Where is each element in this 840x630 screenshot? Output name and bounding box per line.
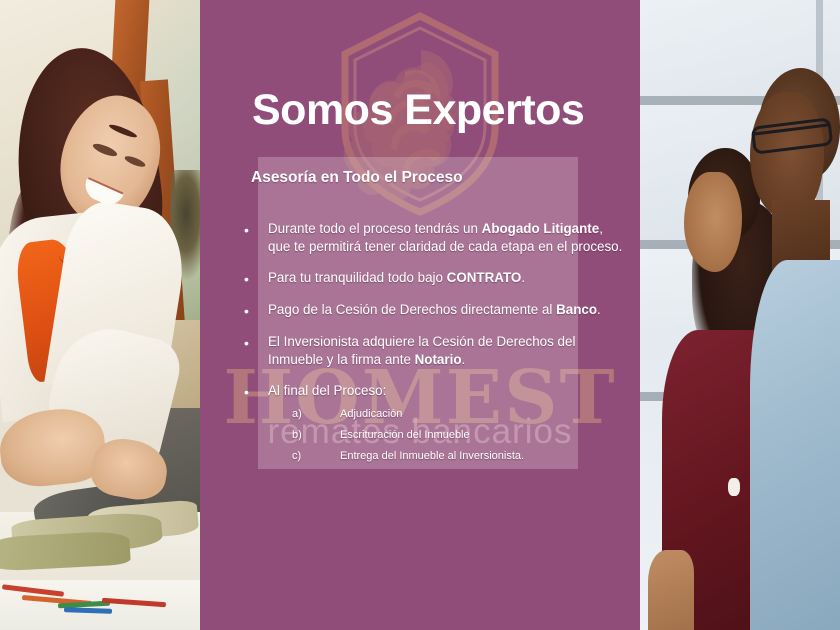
bullet-item: •Durante todo el proceso tendrás un Abog… bbox=[244, 220, 624, 256]
photo-right bbox=[640, 0, 840, 630]
page-title: Somos Expertos bbox=[252, 86, 584, 135]
bullet-marker-icon: • bbox=[244, 220, 268, 256]
bullet-text: El Inversionista adquiere la Cesión de D… bbox=[268, 333, 624, 369]
bullet-text: Para tu tranquilidad todo bajo CONTRATO. bbox=[268, 269, 624, 287]
sublist-item: b)Escrituración del Inmueble bbox=[268, 425, 624, 446]
bullet-sublist: a)Adjudicaciónb)Escrituración del Inmueb… bbox=[268, 404, 624, 467]
content-panel: HOMEST remates bancarios Somos Expertos … bbox=[200, 0, 640, 630]
bullet-text-segment: . bbox=[521, 270, 525, 285]
sublist-marker: c) bbox=[268, 446, 340, 467]
sublist-label: Escrituración del Inmueble bbox=[340, 425, 624, 446]
bullet-marker-icon: • bbox=[244, 301, 268, 320]
right-photo-man-denim-shirt bbox=[750, 260, 840, 630]
bullet-text: Durante todo el proceso tendrás un Aboga… bbox=[268, 220, 624, 256]
bullet-list: •Durante todo el proceso tendrás un Abog… bbox=[244, 220, 624, 480]
right-photo-woman-face bbox=[684, 172, 742, 272]
bullet-text-segment: . bbox=[597, 302, 601, 317]
bullet-text-emphasis: CONTRATO bbox=[447, 270, 522, 285]
sublist-marker: a) bbox=[268, 404, 340, 425]
bullet-text-segment: . bbox=[462, 352, 466, 367]
bullet-text-emphasis: Banco bbox=[556, 302, 597, 317]
bullet-item: •El Inversionista adquiere la Cesión de … bbox=[244, 333, 624, 369]
right-photo-woman-arm bbox=[648, 550, 694, 630]
bullet-item: •Para tu tranquilidad todo bajo CONTRATO… bbox=[244, 269, 624, 288]
bullet-item: •Al final del Proceso:a)Adjudicaciónb)Es… bbox=[244, 382, 624, 467]
right-photo-woman-button bbox=[728, 478, 740, 496]
bullet-marker-icon: • bbox=[244, 333, 268, 369]
bullet-text-segment: Para tu tranquilidad todo bajo bbox=[268, 270, 447, 285]
sublist-marker: b) bbox=[268, 425, 340, 446]
photo-left bbox=[0, 0, 200, 630]
presentation-slide: HOMEST remates bancarios Somos Expertos … bbox=[0, 0, 840, 630]
sublist-item: c)Entrega del Inmueble al Inversionista. bbox=[268, 446, 624, 467]
sublist-label: Adjudicación bbox=[340, 404, 624, 425]
sublist-label: Entrega del Inmueble al Inversionista. bbox=[340, 446, 624, 467]
bullet-text: Al final del Proceso: bbox=[268, 382, 624, 400]
bullet-text-emphasis: Abogado Litigante bbox=[482, 221, 600, 236]
bullet-marker-icon: • bbox=[244, 269, 268, 288]
bullet-text-segment: Al final del Proceso: bbox=[268, 383, 386, 398]
sublist-item: a)Adjudicación bbox=[268, 404, 624, 425]
bullet-text: Pago de la Cesión de Derechos directamen… bbox=[268, 301, 624, 319]
bullet-text-segment: Pago de la Cesión de Derechos directamen… bbox=[268, 302, 556, 317]
slide-subtitle: Asesoría en Todo el Proceso bbox=[251, 169, 463, 187]
bullet-item: •Pago de la Cesión de Derechos directame… bbox=[244, 301, 624, 320]
bullet-text-emphasis: Notario bbox=[415, 352, 462, 367]
bullet-text-segment: Durante todo el proceso tendrás un bbox=[268, 221, 482, 236]
bullet-marker-icon: • bbox=[244, 382, 268, 467]
